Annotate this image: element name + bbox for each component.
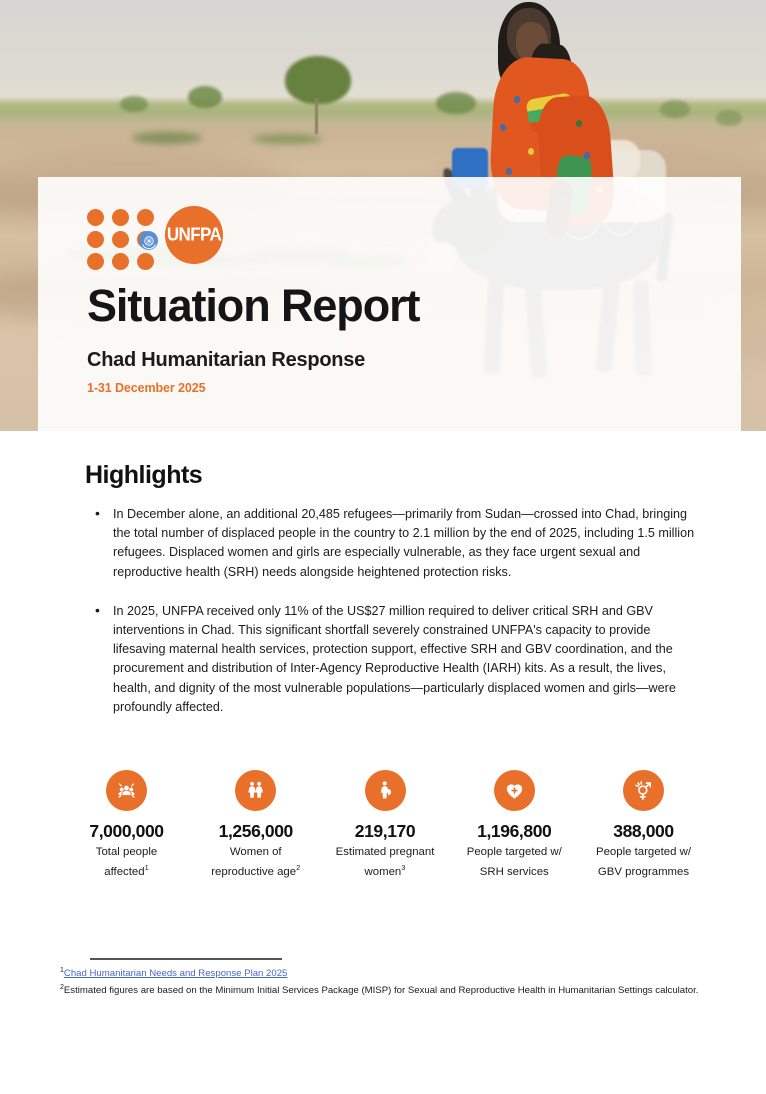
logo-dot xyxy=(137,209,154,226)
stat-value: 1,256,000 xyxy=(191,821,320,842)
two-women-icon xyxy=(235,770,276,811)
horizon-tree xyxy=(716,110,742,126)
stat-label-line1: Estimated pregnant xyxy=(336,846,435,858)
horizon-tree xyxy=(120,96,148,112)
stat-value: 7,000,000 xyxy=(62,821,191,842)
footnote-divider xyxy=(90,958,282,960)
stat-people-targeted-gbv: 388,000 People targeted w/ GBV programme… xyxy=(579,770,708,880)
stat-label-line1: Women of xyxy=(230,846,282,858)
stat-label: People targeted w/ SRH services xyxy=(450,845,579,880)
stat-label: Women of reproductive age2 xyxy=(191,845,320,880)
report-date-range: 1-31 December 2025 xyxy=(87,381,205,395)
horizon-tree xyxy=(660,100,690,118)
stat-label-line1: People targeted w/ xyxy=(596,846,691,858)
shawl-pattern-dot xyxy=(506,168,512,175)
logo-dot xyxy=(137,253,154,270)
stat-label: Total people affected1 xyxy=(62,845,191,880)
tree-trunk xyxy=(315,98,318,134)
horizon-tree xyxy=(188,86,222,108)
gender-symbol-icon xyxy=(623,770,664,811)
stat-people-targeted-srh: 1,196,800 People targeted w/ SRH service… xyxy=(450,770,579,880)
situation-report-page: UNFPA Situation Report Chad Humanitarian… xyxy=(0,0,766,1094)
stat-label: Estimated pregnant women3 xyxy=(321,845,450,880)
highlights-list: In December alone, an additional 20,485 … xyxy=(85,505,701,737)
acacia-tree xyxy=(285,56,351,104)
stat-footnote-marker: 1 xyxy=(145,863,149,872)
people-group-icon xyxy=(106,770,147,811)
logo-dot xyxy=(87,253,104,270)
page-subtitle: Chad Humanitarian Response xyxy=(87,349,365,372)
horizon-scrub xyxy=(132,132,202,144)
stat-label-line2: women xyxy=(365,866,402,878)
shawl-pattern-dot xyxy=(576,120,582,127)
logo-dot xyxy=(112,253,129,270)
shawl-pattern-dot xyxy=(584,152,590,159)
highlight-bullet: In 2025, UNFPA received only 11% of the … xyxy=(85,602,701,717)
stat-label-line2: affected xyxy=(104,866,144,878)
stat-label-line2: SRH services xyxy=(480,866,549,878)
stat-total-people-affected: 7,000,000 Total people affected1 xyxy=(62,770,191,880)
key-figures-row: 7,000,000 Total people affected1 1,256,0… xyxy=(62,770,708,880)
highlight-bullet: In December alone, an additional 20,485 … xyxy=(85,505,701,582)
stat-footnote-marker: 3 xyxy=(401,863,405,872)
logo-dot xyxy=(112,231,129,248)
stat-label-line1: Total people xyxy=(96,846,157,858)
stat-footnote-marker: 2 xyxy=(296,863,300,872)
unfpa-logo: UNFPA xyxy=(87,206,267,266)
shawl-pattern-dot xyxy=(514,96,520,103)
unfpa-wordmark-text: UNFPA xyxy=(167,224,221,246)
un-emblem-icon xyxy=(139,231,158,250)
title-overlay-card: UNFPA Situation Report Chad Humanitarian… xyxy=(38,177,741,431)
stat-label-line1: People targeted w/ xyxy=(467,846,562,858)
horizon-scrub xyxy=(252,134,322,144)
footnote-text: Estimated figures are based on the Minim… xyxy=(64,985,699,996)
stat-estimated-pregnant-women: 219,170 Estimated pregnant women3 xyxy=(321,770,450,880)
shawl-pattern-dot xyxy=(528,148,534,155)
horizon-tree xyxy=(436,92,476,114)
heart-plus-icon xyxy=(494,770,535,811)
shawl-pattern-dot xyxy=(500,124,506,131)
unfpa-wordmark-circle: UNFPA xyxy=(165,206,223,264)
logo-dot xyxy=(87,231,104,248)
stat-value: 388,000 xyxy=(579,821,708,842)
logo-dot xyxy=(112,209,129,226)
footnote-item: 1Chad Humanitarian Needs and Response Pl… xyxy=(60,964,700,981)
page-title: Situation Report xyxy=(87,283,419,328)
highlights-heading: Highlights xyxy=(85,461,202,490)
logo-dot xyxy=(87,209,104,226)
footnote-link-chad-hnrp[interactable]: Chad Humanitarian Needs and Response Pla… xyxy=(64,968,287,979)
stat-value: 1,196,800 xyxy=(450,821,579,842)
footnote-item: 2Estimated figures are based on the Mini… xyxy=(60,981,700,998)
stat-label-line2: GBV programmes xyxy=(598,866,689,878)
stat-women-reproductive-age: 1,256,000 Women of reproductive age2 xyxy=(191,770,320,880)
footnotes-section: 1Chad Humanitarian Needs and Response Pl… xyxy=(60,964,700,997)
stat-label-line2: reproductive age xyxy=(211,866,296,878)
stat-label: People targeted w/ GBV programmes xyxy=(579,845,708,880)
pregnant-woman-icon xyxy=(365,770,406,811)
stat-value: 219,170 xyxy=(321,821,450,842)
